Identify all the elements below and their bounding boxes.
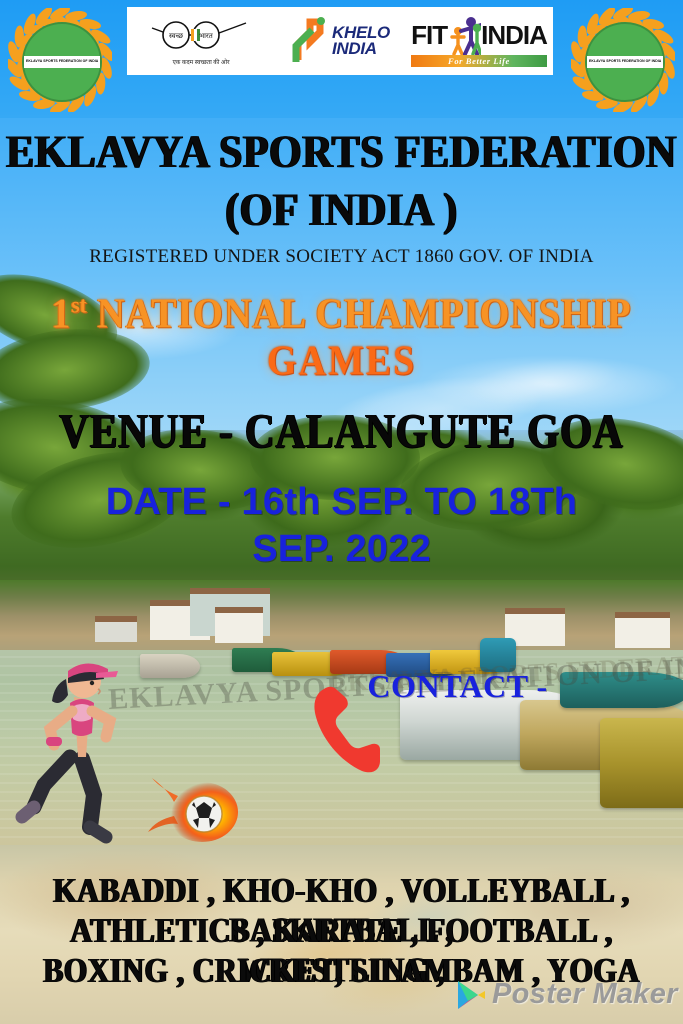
play-store-triangle-icon bbox=[455, 979, 485, 1011]
logo-label: EKLAVYA SPORTS FEDERATION OF INDIA bbox=[24, 56, 100, 68]
poster-maker-label: Poster Maker bbox=[492, 978, 678, 1011]
foreground-boat bbox=[600, 718, 683, 808]
swachh-tagline: एक कदम स्वच्छता की ओर bbox=[146, 58, 256, 66]
federation-title-line2: (OF INDIA ) bbox=[0, 186, 683, 235]
boat-prow bbox=[480, 638, 516, 672]
federation-title-line1: EKLAVYA SPORTS FEDERATION bbox=[0, 128, 683, 177]
parked-vehicle bbox=[95, 616, 137, 642]
eklavya-logo-left: EKLAVYA SPORTS FEDERATION OF INDIA bbox=[8, 8, 112, 112]
khelo-india-wordmark: KHELO INDIA bbox=[332, 25, 390, 57]
logo-disc: EKLAVYA SPORTS FEDERATION OF INDIA bbox=[585, 22, 665, 102]
registration-text: REGISTERED UNDER SOCIETY ACT 1860 GOV. O… bbox=[0, 246, 683, 268]
poster-maker-watermark: Poster Maker bbox=[455, 978, 678, 1011]
flaming-football-icon bbox=[148, 772, 238, 844]
khelo-india-mark-icon bbox=[290, 16, 330, 66]
sponsor-logo-strip: स्वच्छ भारत एक कदम स्वच्छता की ओर KHELO … bbox=[127, 7, 553, 75]
fit-word: FIT bbox=[411, 20, 447, 51]
championship-number: 1 bbox=[51, 291, 71, 337]
logo-disc: EKLAVYA SPORTS FEDERATION OF INDIA bbox=[22, 22, 102, 102]
fit-india-logo: FIT INDIA For Better Life bbox=[405, 7, 553, 75]
india-word: INDIA bbox=[481, 20, 547, 51]
khelo-india-logo: KHELO INDIA bbox=[275, 7, 405, 75]
fit-india-figures-icon bbox=[447, 15, 481, 55]
village-house bbox=[215, 607, 263, 643]
fit-india-tagline: For Better Life bbox=[411, 55, 547, 67]
championship-title-line2: GAMES bbox=[0, 337, 683, 385]
date-text-line2: SEP. 2022 bbox=[0, 528, 683, 571]
swachh-bharat-logo: स्वच्छ भारत एक कदम स्वच्छता की ओर bbox=[127, 7, 275, 75]
logo-label: EKLAVYA SPORTS FEDERATION OF INDIA bbox=[587, 56, 663, 68]
championship-rest: NATIONAL CHAMPIONSHIP bbox=[87, 291, 632, 337]
date-text-line1: DATE - 16th SEP. TO 18Th bbox=[0, 481, 683, 524]
swachh-word2: भारत bbox=[199, 32, 214, 40]
swachh-word1: स्वच्छ bbox=[169, 32, 184, 40]
venue-text: VENUE - CALANGUTE GOA bbox=[0, 402, 683, 459]
village-house bbox=[615, 612, 670, 648]
poster-canvas: EKLAVYA SPORTS FEDERATION OF INDIA EKLAV… bbox=[0, 0, 683, 1024]
eklavya-logo-right: EKLAVYA SPORTS FEDERATION OF INDIA bbox=[571, 8, 675, 112]
contact-label: CONTACT - bbox=[0, 668, 683, 705]
championship-title-line1: 1st NATIONAL CHAMPIONSHIP bbox=[0, 290, 683, 338]
championship-ordinal: st bbox=[71, 291, 86, 317]
spectacles-icon: स्वच्छ भारत bbox=[146, 16, 256, 52]
